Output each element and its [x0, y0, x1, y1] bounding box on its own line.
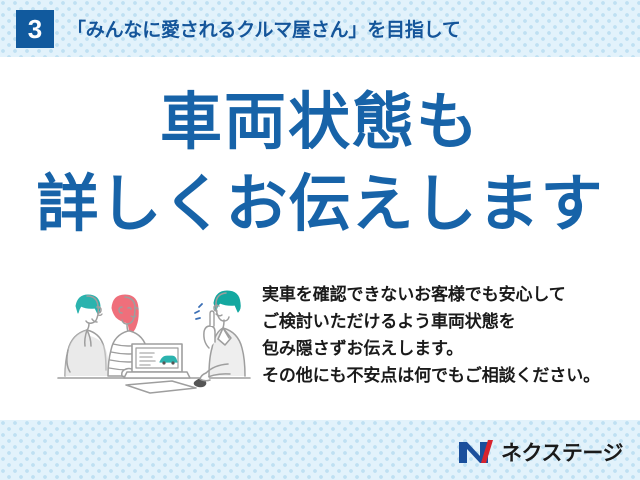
- content-row: 実車を確認できないお客様でも安心して ご検討いただけるよう車両状態を 包み隠さず…: [0, 278, 640, 398]
- headline: 車両状態も 詳しくお伝えします: [0, 92, 640, 236]
- slide-root: 3 「みんなに愛されるクルマ屋さん」を目指して 車両状態も 詳しくお伝えします: [0, 0, 640, 480]
- header-title: 「みんなに愛されるクルマ屋さん」を目指して: [67, 15, 461, 42]
- body-line-1: 実車を確認できないお客様でも安心して: [262, 282, 634, 309]
- body-line-3: 包み隠さずお伝えします。: [262, 336, 634, 363]
- step-number-badge: 3: [16, 10, 54, 48]
- consultation-illustration: [56, 278, 252, 396]
- nextage-n-mark-icon: [458, 439, 494, 465]
- headline-line-1: 車両状態も: [0, 92, 640, 154]
- body-line-2: ご検討いただけるよう車両状態を: [262, 309, 634, 336]
- body-text: 実車を確認できないお客様でも安心して ご検討いただけるよう車両状態を 包み隠さず…: [262, 282, 634, 389]
- body-line-4: その他にも不安点は何でもご相談ください。: [262, 363, 634, 390]
- slide-header: 3 「みんなに愛されるクルマ屋さん」を目指して: [0, 0, 640, 57]
- nextage-logo-text: ネクステージ: [501, 437, 623, 467]
- nextage-logo: ネクステージ: [458, 437, 623, 467]
- headline-line-2: 詳しくお伝えします: [0, 174, 640, 236]
